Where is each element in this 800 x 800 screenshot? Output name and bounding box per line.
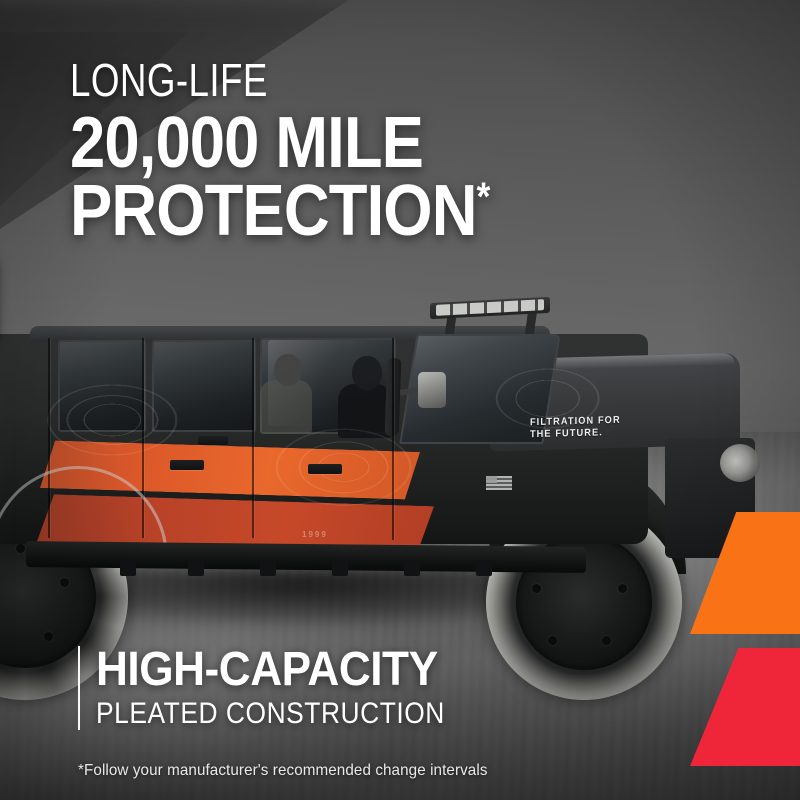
subhead-text-group: HIGH-CAPACITY PLEATED CONSTRUCTION xyxy=(96,646,492,730)
headline-block: LONG-LIFE 20,000 MILE PROTECTION* xyxy=(70,56,730,244)
subhead-line-2: PLEATED CONSTRUCTION xyxy=(96,698,445,730)
headline-asterisk: * xyxy=(477,175,490,219)
headline-line-2: PROTECTION* xyxy=(70,178,651,244)
subhead-line-1: HIGH-CAPACITY xyxy=(96,646,461,694)
headline-line-1: 20,000 MILE xyxy=(70,110,651,176)
promo-banner: K& N. FILTRATION FOR THE FUTURE. 1999 LO… xyxy=(0,0,800,800)
headline-line-2-text: PROTECTION xyxy=(70,171,477,251)
subhead-block: HIGH-CAPACITY PLEATED CONSTRUCTION xyxy=(78,646,492,730)
subhead-divider-rule xyxy=(78,646,80,730)
headline-eyebrow: LONG-LIFE xyxy=(70,56,598,104)
footnote-text: *Follow your manufacturer's recommended … xyxy=(78,762,488,780)
